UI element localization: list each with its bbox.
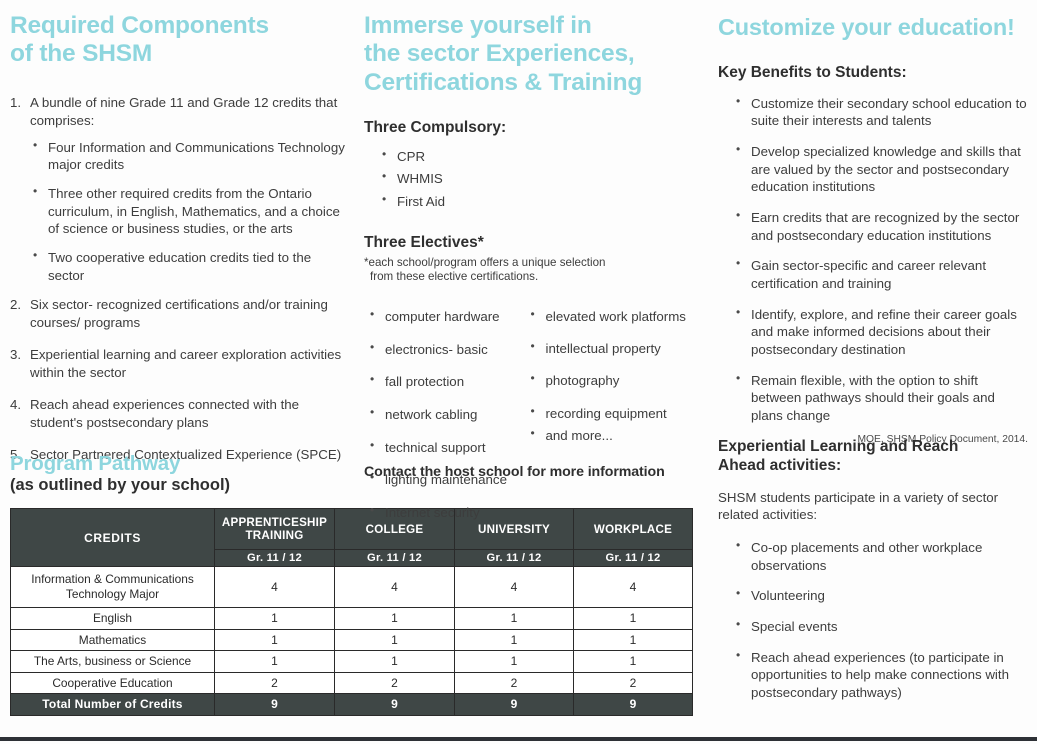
cell-value: 2 — [335, 672, 455, 694]
experiential-heading-line1: Experiential Learning and Reach — [718, 438, 958, 455]
grade-label-apprenticeship: Gr. 11 / 12 — [215, 550, 335, 567]
table-row: Cooperative Education 2 2 2 2 — [11, 672, 693, 694]
left-title: Required Components of the SHSM — [10, 12, 350, 69]
list-item: photography — [531, 372, 690, 390]
list-item: computer hardware — [370, 308, 527, 326]
electives-column-1: computer hardware electronics- basic fal… — [364, 308, 527, 522]
page-bottom-rule — [0, 737, 1037, 741]
list-item: 4. Reach ahead experiences connected wit… — [10, 396, 350, 432]
list-item: Identify, explore, and refine their care… — [736, 306, 1028, 359]
cell-value: 1 — [455, 651, 574, 673]
cell-value: 4 — [335, 567, 455, 608]
list-text: and more... — [546, 428, 613, 443]
list-item: Gain sector-specific and career relevant… — [736, 257, 1028, 292]
table-row: English 1 1 1 1 — [11, 608, 693, 630]
list-number: 2. — [10, 296, 21, 314]
list-item: intellectual property — [531, 340, 690, 358]
list-text: Reach ahead experiences (to participate … — [751, 650, 1009, 700]
list-item: Four Information and Communications Tech… — [33, 139, 350, 174]
list-item: recording equipment — [531, 405, 690, 423]
cell-value: 1 — [455, 629, 574, 651]
list-text: fall protection — [385, 374, 464, 389]
list-text: Co-op placements and other workplace obs… — [751, 540, 982, 573]
list-item: Two cooperative education credits tied t… — [33, 249, 350, 284]
required-components-list-cont: 2. Six sector- recognized certifications… — [10, 296, 350, 464]
experiential-learning-block: Experiential Learning and Reach Ahead ac… — [718, 437, 1030, 702]
middle-column: Immerse yourself in the sector Experienc… — [364, 12, 689, 522]
electives-columns: computer hardware electronics- basic fal… — [364, 308, 689, 522]
program-pathway-title: Program Pathway — [10, 452, 350, 476]
cell-value: 2 — [455, 672, 574, 694]
electives-column-2: elevated work platforms intellectual pro… — [527, 308, 690, 522]
cell-value: 1 — [455, 608, 574, 630]
cell-value: 2 — [215, 672, 335, 694]
list-number: 4. — [10, 396, 21, 414]
cell-value: 1 — [215, 629, 335, 651]
list-text: Three other required credits from the On… — [48, 186, 340, 236]
cell-value: 4 — [574, 567, 693, 608]
list-text: technical support — [385, 440, 486, 455]
middle-title: Immerse yourself in the sector Experienc… — [364, 12, 689, 97]
list-item: and more... — [531, 427, 690, 445]
list-item: Customize their secondary school educati… — [736, 95, 1028, 130]
table-col-credits: CREDITS — [11, 509, 215, 567]
list-item: Earn credits that are recognized by the … — [736, 209, 1028, 244]
cell-value: 4 — [455, 567, 574, 608]
experiential-intro: SHSM students participate in a variety o… — [718, 489, 1030, 524]
electives-list-2: elevated work platforms intellectual pro… — [531, 308, 690, 444]
list-item: Special events — [736, 618, 1030, 636]
left-title-line1: Required Components — [10, 12, 269, 39]
electives-note-line2: from these elective certifications. — [364, 270, 689, 284]
cell-value: 1 — [335, 608, 455, 630]
list-item: Reach ahead experiences (to participate … — [736, 649, 1030, 702]
total-value: 9 — [215, 694, 335, 716]
list-text: electronics- basic — [385, 342, 488, 357]
electives-note-line1: *each school/program offers a unique sel… — [364, 256, 605, 269]
cell-value: 4 — [215, 567, 335, 608]
list-text: Remain flexible, with the option to shif… — [751, 373, 995, 423]
list-text: Gain sector-specific and career relevant… — [751, 258, 986, 291]
list-text: Identify, explore, and refine their care… — [751, 307, 1017, 357]
grade-label-college: Gr. 11 / 12 — [335, 550, 455, 567]
middle-title-line2: the sector Experiences, — [364, 40, 634, 67]
table-row: Information & Communications Technology … — [11, 567, 693, 608]
list-number: 1. — [10, 94, 21, 112]
cell-value: 2 — [574, 672, 693, 694]
list-item: First Aid — [382, 193, 689, 211]
cell-value: 1 — [574, 629, 693, 651]
key-benefits-heading: Key Benefits to Students: — [718, 63, 1028, 82]
list-item: 1. A bundle of nine Grade 11 and Grade 1… — [10, 94, 350, 130]
list-item: Remain flexible, with the option to shif… — [736, 372, 1028, 425]
program-pathway-table: CREDITS APPRENTICESHIP TRAINING COLLEGE … — [10, 508, 693, 716]
grade-label-university: Gr. 11 / 12 — [455, 550, 574, 567]
right-title: Customize your education! — [718, 14, 1028, 41]
electives-list-1: computer hardware electronics- basic fal… — [370, 308, 527, 522]
total-value: 9 — [455, 694, 574, 716]
row-label: English — [11, 608, 215, 630]
list-text: Six sector- recognized certifications an… — [30, 297, 328, 330]
list-item: Co-op placements and other workplace obs… — [736, 539, 1030, 574]
list-item: Volunteering — [736, 587, 1030, 605]
list-text: Customize their secondary school educati… — [751, 96, 1027, 129]
list-text: intellectual property — [546, 341, 661, 356]
contact-host-school-note: Contact the host school for more informa… — [364, 464, 665, 480]
list-text: First Aid — [397, 194, 445, 209]
list-item: 2. Six sector- recognized certifications… — [10, 296, 350, 332]
grade-label-workplace: Gr. 11 / 12 — [574, 550, 693, 567]
list-text: A bundle of nine Grade 11 and Grade 12 c… — [30, 95, 337, 128]
list-text: Experiential learning and career explora… — [30, 347, 341, 380]
cell-value: 1 — [574, 651, 693, 673]
list-text: Two cooperative education credits tied t… — [48, 250, 311, 283]
list-text: elevated work platforms — [546, 309, 686, 324]
credit-breakdown-list: Four Information and Communications Tech… — [33, 139, 350, 285]
compulsory-list: CPR WHMIS First Aid — [382, 148, 689, 211]
row-label: Information & Communications Technology … — [11, 567, 215, 608]
list-item: technical support — [370, 439, 527, 457]
cell-value: 1 — [335, 629, 455, 651]
list-item: network cabling — [370, 406, 527, 424]
list-text: CPR — [397, 149, 425, 164]
experiential-list: Co-op placements and other workplace obs… — [736, 539, 1030, 702]
left-title-line2: of the SHSM — [10, 40, 152, 67]
middle-title-line3: Certifications & Training — [364, 69, 642, 96]
row-label: The Arts, business or Science — [11, 651, 215, 673]
table-col-apprenticeship: APPRENTICESHIP TRAINING — [215, 509, 335, 550]
table-row: Mathematics 1 1 1 1 — [11, 629, 693, 651]
total-label: Total Number of Credits — [11, 694, 215, 716]
list-item: Develop specialized knowledge and skills… — [736, 143, 1028, 196]
list-item: electronics- basic — [370, 341, 527, 359]
row-label: Cooperative Education — [11, 672, 215, 694]
list-number: 3. — [10, 346, 21, 364]
list-item: WHMIS — [382, 170, 689, 188]
right-column: Customize your education! Key Benefits t… — [718, 14, 1028, 445]
list-text: recording equipment — [546, 406, 667, 421]
list-text: photography — [546, 373, 620, 388]
row-label: Mathematics — [11, 629, 215, 651]
compulsory-heading: Three Compulsory: — [364, 118, 689, 137]
cell-value: 1 — [574, 608, 693, 630]
middle-title-line1: Immerse yourself in — [364, 12, 592, 39]
left-column: Required Components of the SHSM 1. A bun… — [10, 12, 350, 464]
key-benefits-list: Customize their secondary school educati… — [736, 95, 1028, 425]
total-value: 9 — [335, 694, 455, 716]
table-total-row: Total Number of Credits 9 9 9 9 — [11, 694, 693, 716]
program-pathway-heading-block: Program Pathway (as outlined by your sch… — [10, 452, 350, 496]
list-text: Special events — [751, 619, 837, 634]
list-item: Three other required credits from the On… — [33, 185, 350, 238]
list-text: network cabling — [385, 407, 477, 422]
list-item: CPR — [382, 148, 689, 166]
cell-value: 1 — [215, 608, 335, 630]
list-item: fall protection — [370, 373, 527, 391]
table-row: The Arts, business or Science 1 1 1 1 — [11, 651, 693, 673]
cell-value: 1 — [215, 651, 335, 673]
list-item: 3. Experiential learning and career expl… — [10, 346, 350, 382]
list-text: computer hardware — [385, 309, 500, 324]
brochure-page: Required Components of the SHSM 1. A bun… — [0, 0, 1037, 744]
experiential-heading-line2: Ahead activities: — [718, 457, 841, 474]
list-text: Four Information and Communications Tech… — [48, 140, 345, 173]
cell-value: 1 — [335, 651, 455, 673]
experiential-heading: Experiential Learning and Reach Ahead ac… — [718, 437, 1030, 476]
required-components-list: 1. A bundle of nine Grade 11 and Grade 1… — [10, 94, 350, 130]
list-text: Internet security — [385, 505, 480, 520]
total-value: 9 — [574, 694, 693, 716]
program-pathway-subtitle: (as outlined by your school) — [10, 476, 350, 496]
list-text: Earn credits that are recognized by the … — [751, 210, 1019, 243]
electives-note: *each school/program offers a unique sel… — [364, 256, 689, 285]
list-text: WHMIS — [397, 171, 443, 186]
electives-heading: Three Electives* — [364, 233, 689, 252]
list-text: Volunteering — [751, 588, 825, 603]
list-text: Reach ahead experiences connected with t… — [30, 397, 299, 430]
list-item: Internet security — [370, 504, 527, 522]
list-item: elevated work platforms — [531, 308, 690, 326]
list-text: Develop specialized knowledge and skills… — [751, 144, 1021, 194]
